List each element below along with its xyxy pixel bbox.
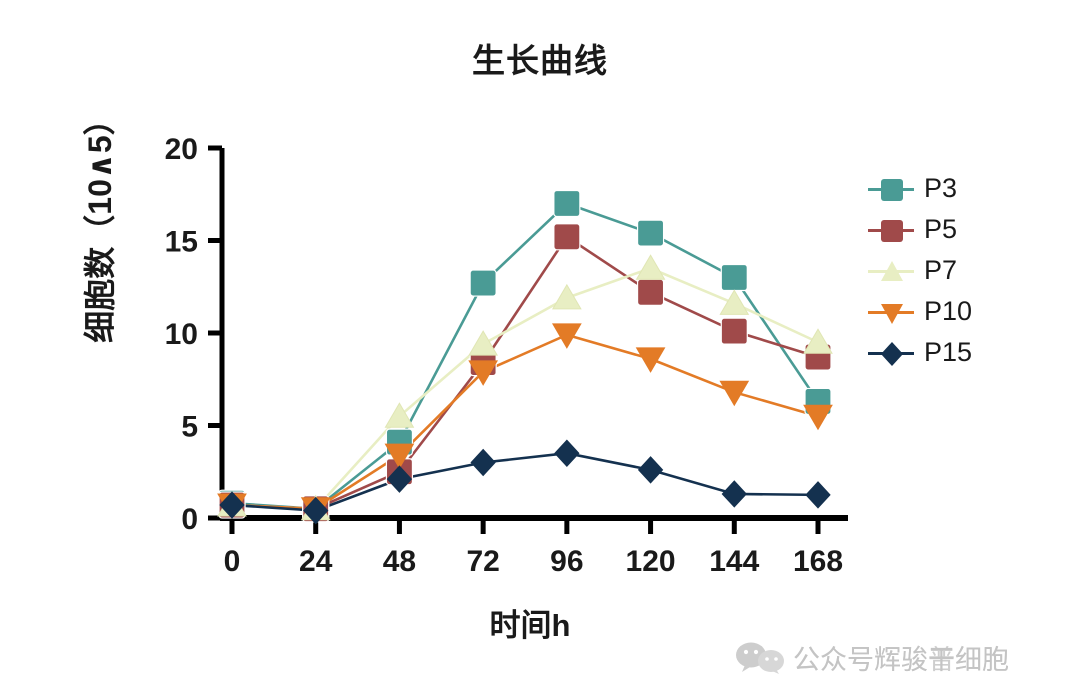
data-point-p15-96h xyxy=(555,440,579,466)
data-point-p10-168h xyxy=(804,405,832,429)
legend-marker-square-icon xyxy=(868,175,914,203)
series-line-p3 xyxy=(232,204,818,509)
legend-marker-triangle-up-icon xyxy=(868,257,914,285)
x-tick-label: 24 xyxy=(299,545,333,578)
data-point-p15-120h xyxy=(639,457,663,483)
legend-glyph xyxy=(880,219,904,243)
data-point-p15-144h xyxy=(722,481,746,507)
legend-item-p3[interactable]: P3 xyxy=(868,168,1068,209)
legend-glyph xyxy=(880,342,904,366)
series-markers xyxy=(218,191,832,524)
y-tick-label: 20 xyxy=(165,133,198,166)
legend-label: P5 xyxy=(924,216,957,243)
data-point-p7-120h xyxy=(637,255,665,279)
legend-glyph xyxy=(880,260,904,284)
data-point-p10-96h xyxy=(553,324,581,348)
legend-marker-diamond-icon xyxy=(868,339,914,367)
legend-label: P3 xyxy=(924,175,957,202)
data-point-p5-144h xyxy=(721,318,747,344)
legend-glyph xyxy=(880,178,904,202)
legend-label: P10 xyxy=(924,298,972,325)
y-tick-label: 10 xyxy=(165,318,198,351)
legend-item-p5[interactable]: P5 xyxy=(868,209,1068,250)
data-point-p15-72h xyxy=(471,450,495,476)
data-point-p3-96h xyxy=(554,191,580,217)
data-point-p10-120h xyxy=(637,348,665,372)
data-point-p7-168h xyxy=(804,329,832,353)
y-tick-label: 5 xyxy=(181,411,198,444)
y-tick-label: 0 xyxy=(181,503,198,536)
legend-item-p10[interactable]: P10 xyxy=(868,291,1068,332)
x-tick-label: 0 xyxy=(224,545,241,578)
legend-item-p15[interactable]: P15 xyxy=(868,332,1068,373)
x-tick-label: 72 xyxy=(466,545,499,578)
data-point-p3-144h xyxy=(721,265,747,291)
series-lines xyxy=(232,204,818,511)
x-axis-label: 时间h xyxy=(230,600,830,645)
legend-item-p7[interactable]: P7 xyxy=(868,250,1068,291)
y-tick-label: 15 xyxy=(165,226,198,259)
x-tick-label: 48 xyxy=(383,545,416,578)
data-point-p7-96h xyxy=(553,285,581,309)
legend-marker-square-icon xyxy=(868,216,914,244)
data-point-p3-120h xyxy=(638,220,664,246)
x-tick-label: 96 xyxy=(550,545,583,578)
legend-glyph xyxy=(880,301,904,325)
chart-legend: P3P5P7P10P15 xyxy=(868,168,1068,373)
series-line-p10 xyxy=(232,335,818,509)
legend-label: P15 xyxy=(924,339,972,366)
data-point-p15-168h xyxy=(806,482,830,508)
data-point-p10-144h xyxy=(720,381,748,405)
x-tick-label: 168 xyxy=(793,545,843,578)
data-point-p5-120h xyxy=(638,279,664,305)
legend-marker-triangle-down-icon xyxy=(868,298,914,326)
x-tick-label: 144 xyxy=(709,545,759,578)
data-point-p7-72h xyxy=(469,331,497,355)
legend-label: P7 xyxy=(924,257,957,284)
x-tick-label: 120 xyxy=(626,545,676,578)
data-point-p3-72h xyxy=(470,270,496,296)
growth-curve-figure: 生长曲线 细胞数（10∧5） 0510152002448729612014416… xyxy=(0,0,1080,693)
data-point-p5-96h xyxy=(554,224,580,250)
